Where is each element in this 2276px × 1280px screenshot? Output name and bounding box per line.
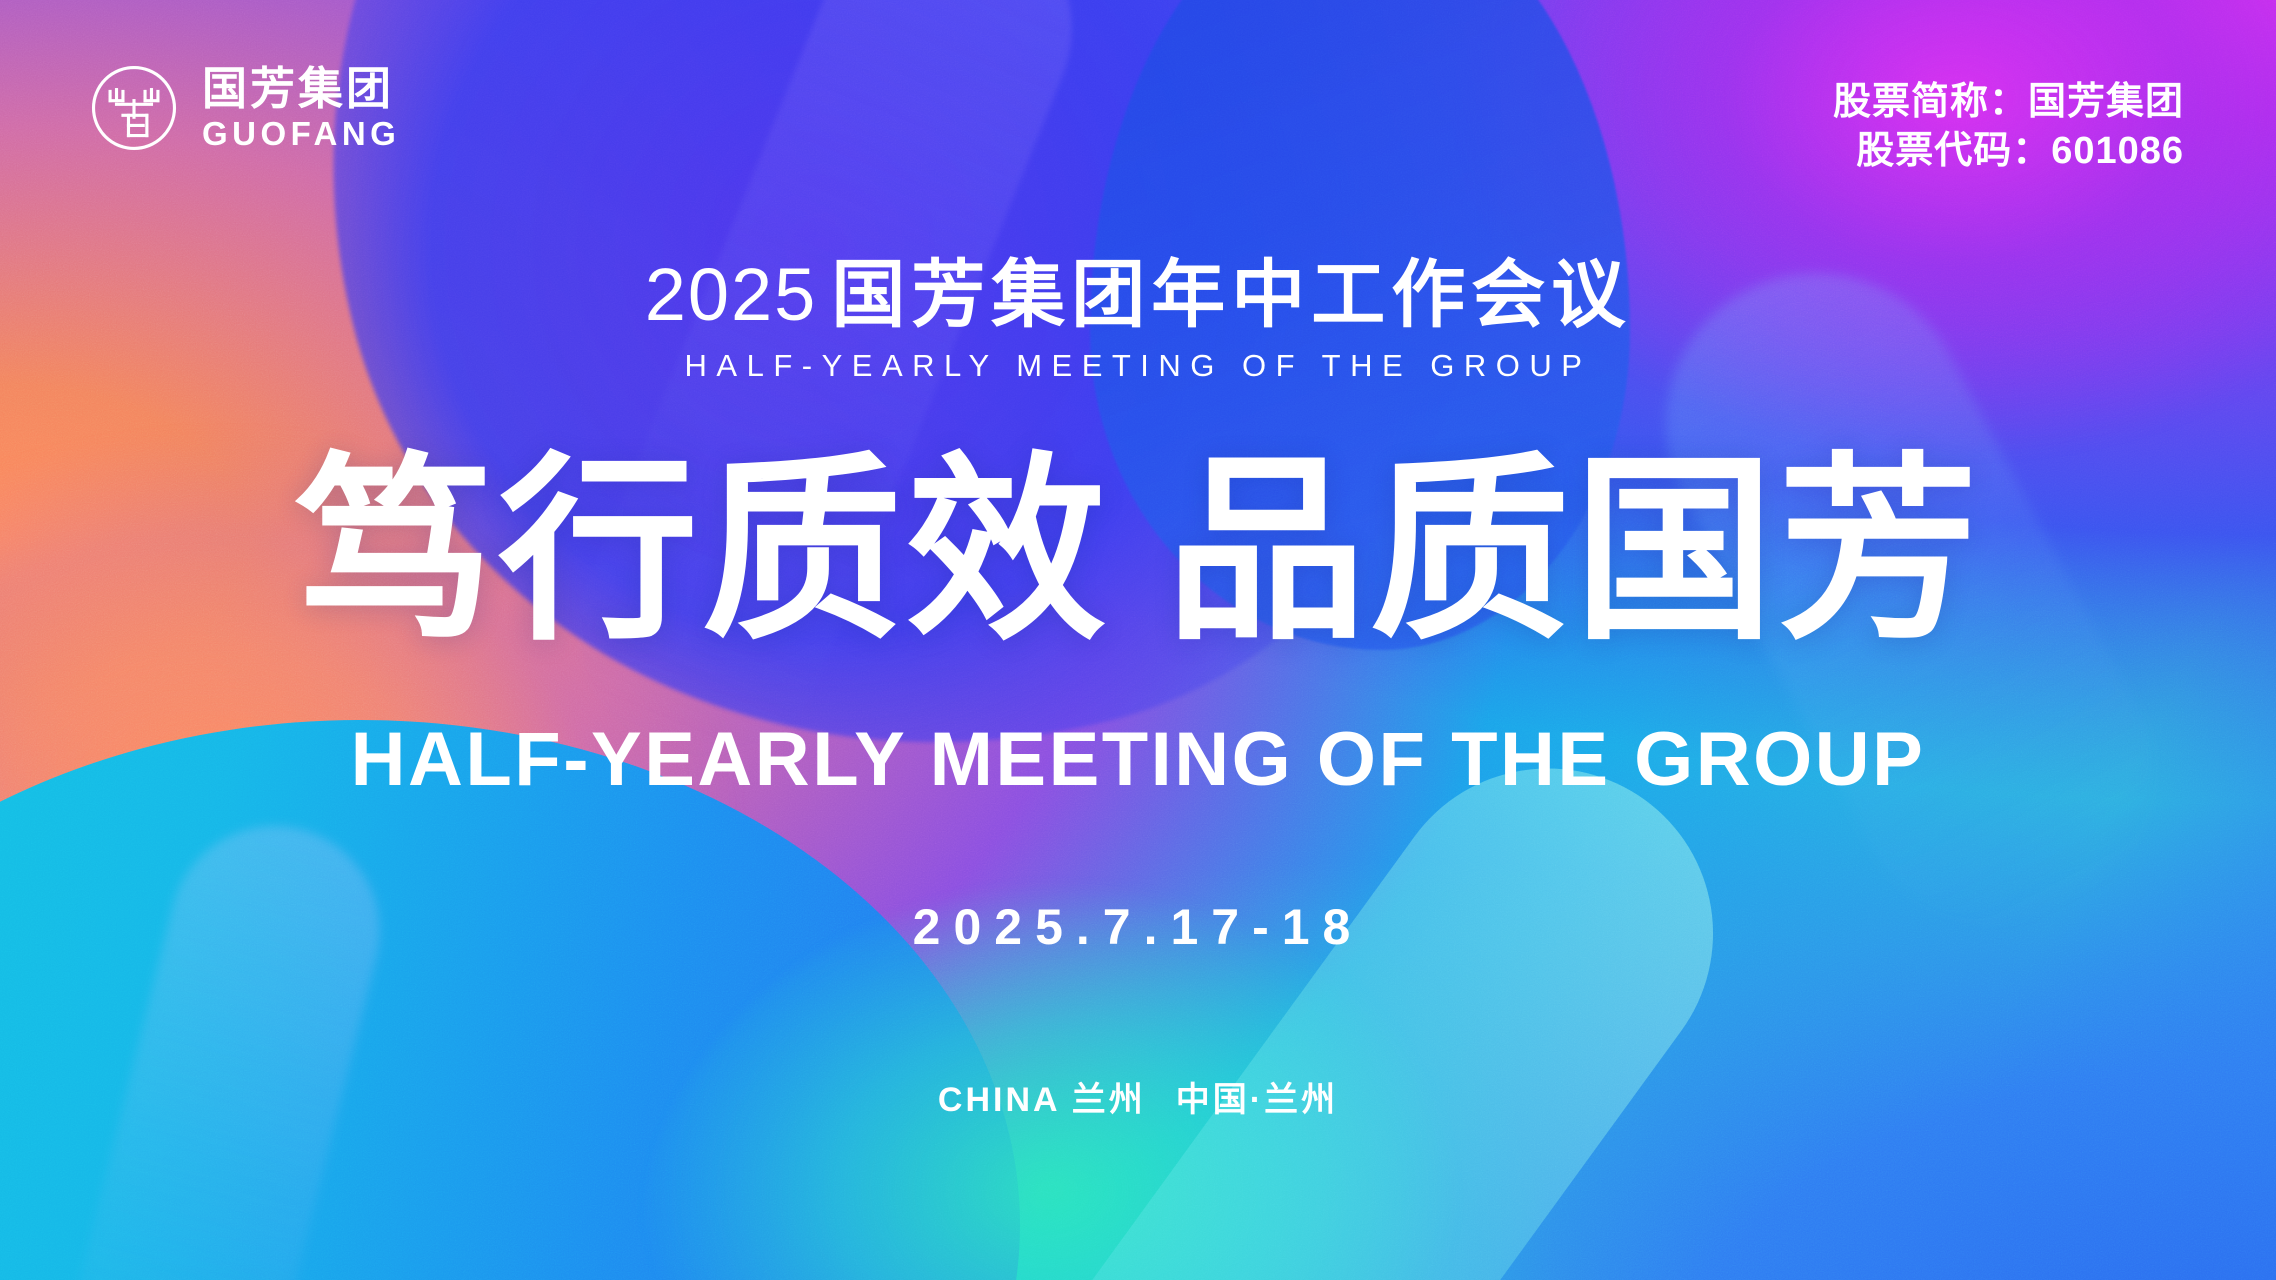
event-title-en: HALF-YEARLY MEETING OF THE GROUP [0, 348, 2276, 384]
event-title-cn: 2025国芳集团年中工作会议 [0, 258, 2276, 332]
banner-content: 国芳集团 GUOFANG 股票简称：国芳集团 股票代码：601086 2025国… [0, 0, 2276, 1280]
event-location-en: CHINA 兰州 [938, 1081, 1146, 1119]
event-title-cn-text: 国芳集团年中工作会议 [831, 253, 1631, 336]
headline-cn: 笃行质效品质国芳 [0, 452, 2276, 652]
event-year: 2025 [645, 253, 818, 336]
stock-info-block: 股票简称：国芳集团 股票代码：601086 [1833, 78, 2184, 177]
headline-cn-part1: 笃行质效 [294, 440, 1110, 663]
brand-logo-lockup: 国芳集团 GUOFANG [88, 62, 400, 154]
event-location: CHINA 兰州中国·兰州 [0, 1072, 2276, 1121]
event-title-block: 2025国芳集团年中工作会议 HALF-YEARLY MEETING OF TH… [0, 258, 2276, 384]
event-location-cn: 中国·兰州 [1176, 1081, 1338, 1119]
conference-banner: 国芳集团 GUOFANG 股票简称：国芳集团 股票代码：601086 2025国… [0, 0, 2276, 1280]
brand-wordmark: 国芳集团 GUOFANG [202, 66, 400, 150]
stock-abbreviation-line: 股票简称：国芳集团 [1833, 78, 2184, 127]
event-date: 2025.7.17-18 [0, 898, 2276, 956]
headline-en: HALF-YEARLY MEETING OF THE GROUP [0, 716, 2276, 803]
stock-code-line: 股票代码：601086 [1833, 127, 2184, 176]
brand-name-en: GUOFANG [202, 117, 400, 150]
headline-cn-part2: 品质国芳 [1166, 440, 1982, 663]
brand-name-cn: 国芳集团 [202, 66, 400, 111]
guofang-circular-emblem-icon [88, 62, 180, 154]
